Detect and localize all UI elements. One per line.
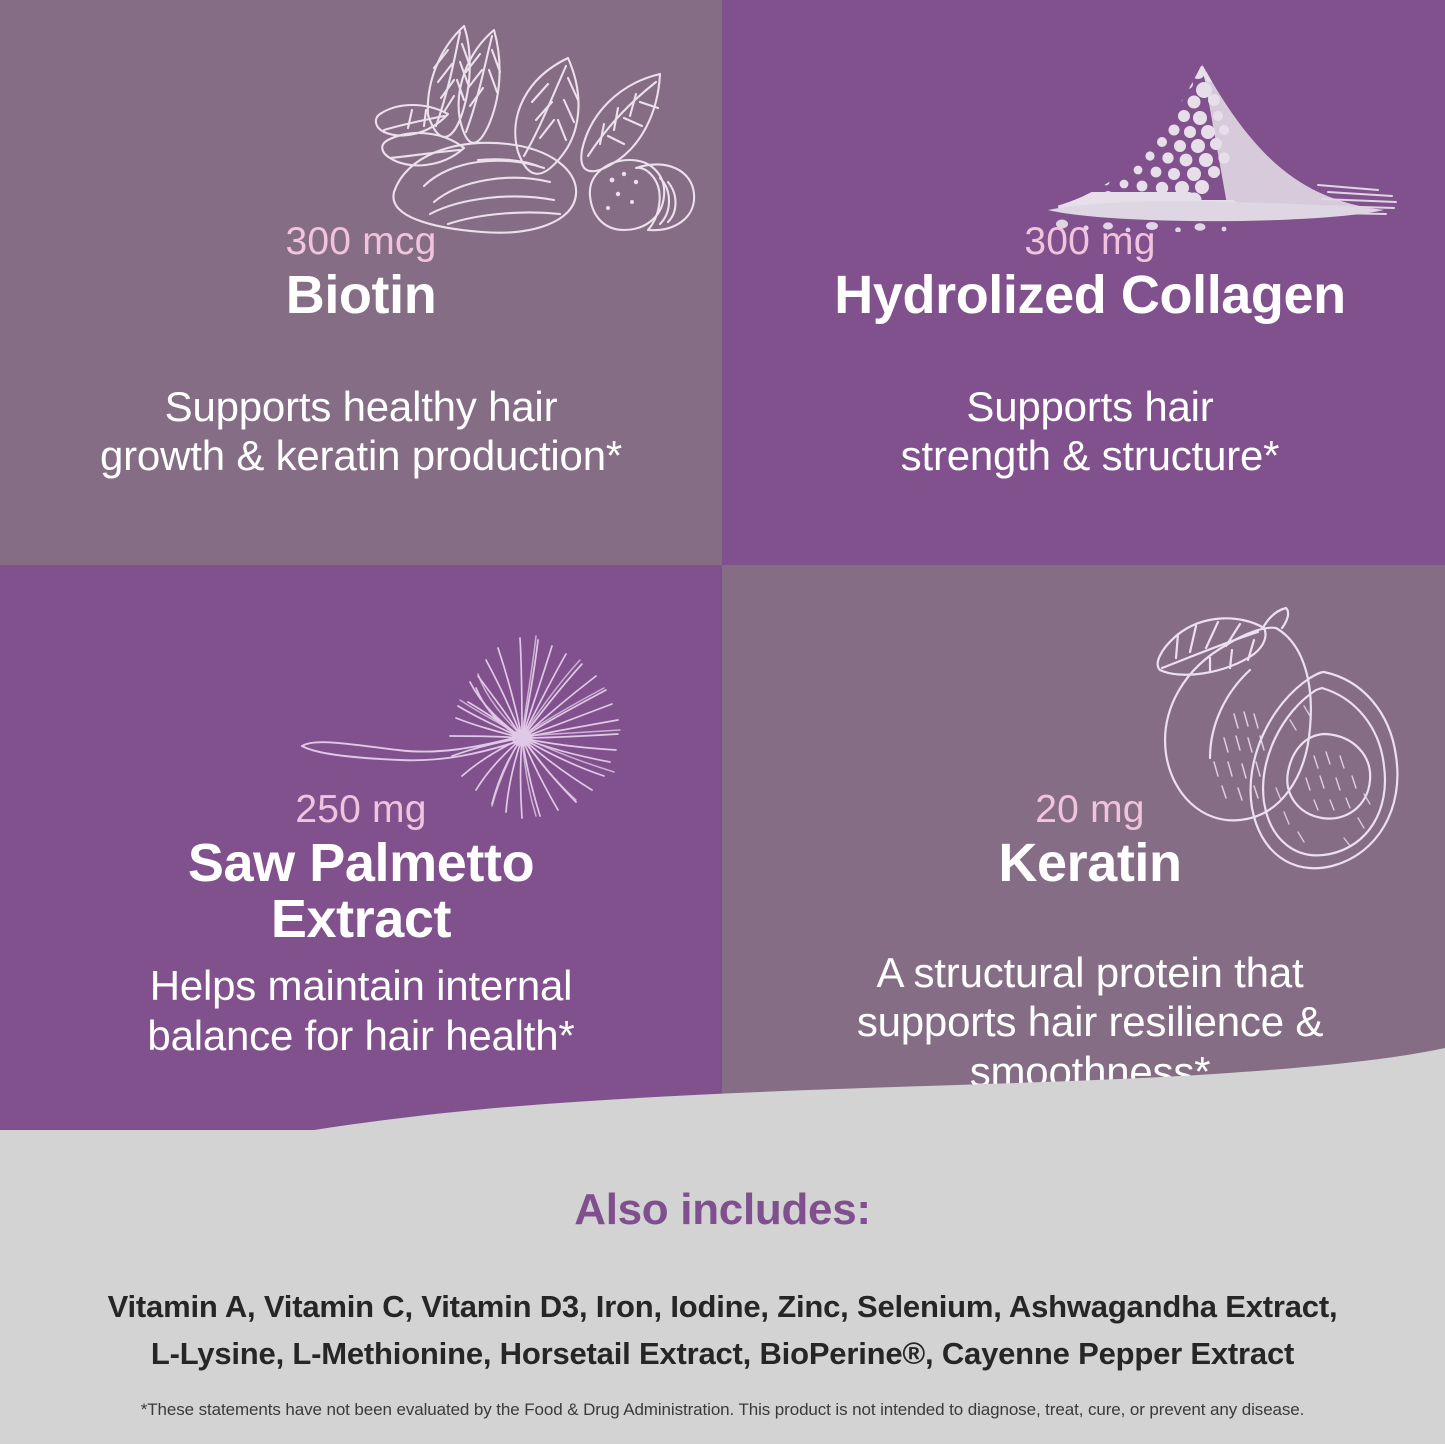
keratin-description-line-3: smoothness* — [970, 1048, 1211, 1095]
card-collagen-text: 300 mg Hydrolized Collagen Supports hair… — [750, 222, 1430, 481]
keratin-description-line-2: supports hair resilience & — [857, 998, 1323, 1045]
saw-palmetto-dose: 250 mg — [30, 790, 692, 831]
collagen-description: Supports hair strength & structure* — [750, 382, 1430, 481]
saw-palmetto-description-line-1: Helps maintain internal — [150, 962, 573, 1009]
keratin-description-line-1: A structural protein that — [877, 949, 1304, 996]
supplement-ingredient-infographic: 300 mcg Biotin Supports healthy hair gro… — [0, 0, 1445, 1444]
also-includes-line-1: Vitamin A, Vitamin C, Vitamin D3, Iron, … — [0, 1283, 1445, 1330]
also-includes-line-2: L-Lysine, L-Methionine, Horsetail Extrac… — [0, 1330, 1445, 1377]
also-includes-title: Also includes: — [0, 1185, 1445, 1235]
card-keratin-text: 20 mg Keratin A structural protein that … — [750, 790, 1430, 1096]
collagen-name: Hydrolized Collagen — [750, 268, 1430, 324]
saw-palmetto-name: Saw Palmetto Extract — [30, 836, 692, 947]
collagen-description-line-1: Supports hair — [966, 383, 1213, 430]
keratin-name: Keratin — [750, 836, 1430, 892]
collagen-dose: 300 mg — [750, 222, 1430, 263]
card-saw-palmetto-text: 250 mg Saw Palmetto Extract Helps mainta… — [30, 790, 692, 1060]
biotin-description-line-2: growth & keratin production* — [100, 432, 622, 479]
biotin-description: Supports healthy hair growth & keratin p… — [30, 382, 692, 481]
saw-palmetto-name-line-1: Saw Palmetto — [188, 833, 534, 893]
saw-palmetto-name-line-2: Extract — [271, 889, 451, 949]
biotin-dose: 300 mcg — [30, 222, 692, 263]
saw-palmetto-description-line-2: balance for hair health* — [147, 1012, 574, 1059]
collagen-description-line-2: strength & structure* — [901, 432, 1280, 479]
biotin-description-line-1: Supports healthy hair — [165, 383, 558, 430]
biotin-name: Biotin — [30, 268, 692, 324]
keratin-description: A structural protein that supports hair … — [750, 948, 1430, 1097]
keratin-dose: 20 mg — [750, 790, 1430, 831]
card-biotin-text: 300 mcg Biotin Supports healthy hair gro… — [30, 222, 692, 481]
saw-palmetto-description: Helps maintain internal balance for hair… — [30, 961, 692, 1060]
also-includes-section: Also includes: Vitamin A, Vitamin C, Vit… — [0, 1185, 1445, 1377]
fda-disclaimer: *These statements have not been evaluate… — [0, 1400, 1445, 1420]
